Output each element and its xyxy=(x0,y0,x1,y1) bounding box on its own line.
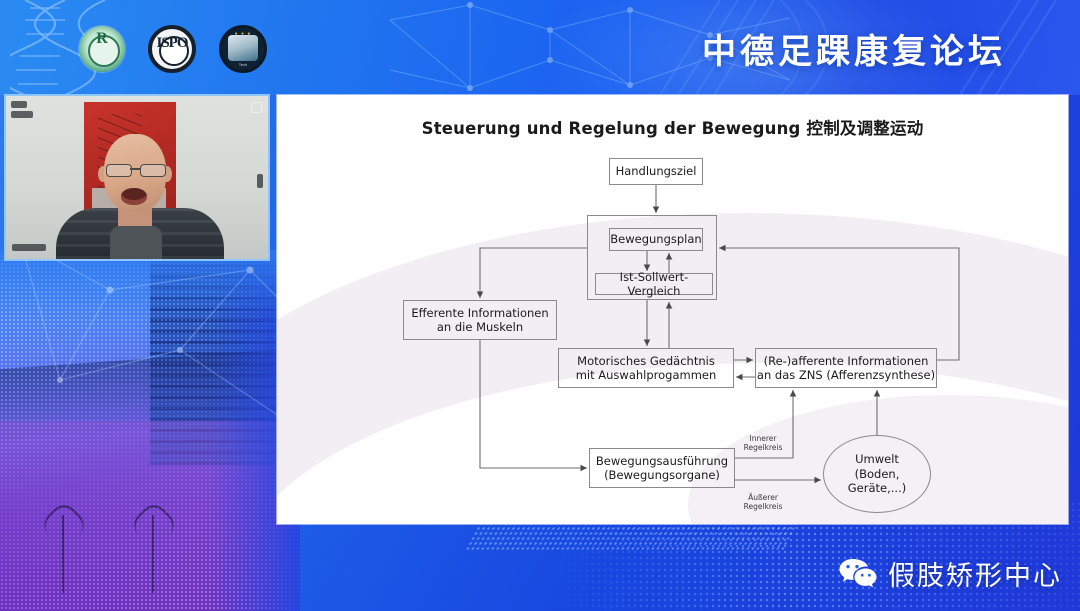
speaker-webcam[interactable] xyxy=(4,94,270,261)
node-efferente-informationen-label: Efferente Informationenan die Muskeln xyxy=(411,306,548,334)
screen: R ISPO ● ● ● Tech 中德足踝康复论坛 xyxy=(0,0,1080,611)
background-network-decoration xyxy=(0,230,300,470)
logo-blue-seal: ● ● ● Tech xyxy=(219,25,267,73)
logo-green-seal: R xyxy=(79,26,125,72)
node-handlungsziel[interactable]: Handlungsziel xyxy=(609,158,703,185)
event-title: 中德足踝康复论坛 xyxy=(702,24,1006,73)
webcam-speaker-shirt xyxy=(110,226,162,261)
node-bewegungsplan-label: Bewegungsplan xyxy=(610,232,701,246)
wechat-icon xyxy=(838,557,878,591)
node-bewegungsausfuehrung[interactable]: Bewegungsausführung(Bewegungsorgane) xyxy=(589,448,735,488)
node-umwelt[interactable]: Umwelt(Boden, Geräte,...) xyxy=(823,435,931,513)
webcam-side-handle[interactable] xyxy=(257,174,263,188)
webcam-speaker-glasses-left xyxy=(106,164,132,177)
edge-label-aeusserer-regelkreis: ÄußererRegelkreis xyxy=(735,493,791,512)
node-bewegungsausfuehrung-label: Bewegungsausführung(Bewegungsorgane) xyxy=(596,454,728,482)
logo-black-seal-glyph: ISPO xyxy=(152,35,192,52)
logo-blue-seal-sub: Tech xyxy=(222,62,264,67)
logo-green-seal-glyph: R xyxy=(79,30,125,48)
event-header-banner: R ISPO ● ● ● Tech 中德足踝康复论坛 xyxy=(0,0,1080,95)
webcam-speaker-glasses-right xyxy=(140,164,166,177)
node-bewegungsplan[interactable]: Bewegungsplan xyxy=(609,228,703,251)
node-motorisches-gedaechtnis[interactable]: Motorisches Gedächtnismit Auswahlprogamm… xyxy=(558,348,734,388)
node-reafferente-informationen[interactable]: (Re-)afferente Informationenan das ZNS (… xyxy=(755,348,937,388)
slide-title: Steuerung und Regelung der Bewegung 控制及调… xyxy=(277,115,1068,139)
logo-blue-seal-emblem xyxy=(228,35,258,61)
webcam-overlay-badge xyxy=(11,101,27,108)
node-motorisches-gedaechtnis-label: Motorisches Gedächtnismit Auswahlprogamm… xyxy=(576,354,717,382)
watermark: 假肢矫形中心 xyxy=(838,554,1062,593)
edge-label-innerer-regelkreis: InnererRegelkreis xyxy=(735,434,791,453)
watermark-text: 假肢矫形中心 xyxy=(888,554,1062,593)
webcam-participant-name-label xyxy=(12,244,46,251)
logo-black-seal: ISPO xyxy=(148,25,196,73)
node-umwelt-label: Umwelt(Boden, Geräte,...) xyxy=(824,452,930,495)
webcam-overlay-name-label xyxy=(11,111,33,118)
webcam-speaker-glasses-bridge xyxy=(130,168,140,170)
node-efferente-informationen[interactable]: Efferente Informationenan die Muskeln xyxy=(403,300,557,340)
webcam-expand-icon[interactable] xyxy=(251,102,262,113)
node-handlungsziel-label: Handlungsziel xyxy=(616,164,697,178)
node-reafferente-informationen-label: (Re-)afferente Informationenan das ZNS (… xyxy=(757,354,935,382)
webcam-speaker-mouth xyxy=(121,188,147,205)
node-ist-sollwert-vergleich-label: Ist-Sollwert-Vergleich xyxy=(596,270,712,298)
node-ist-sollwert-vergleich[interactable]: Ist-Sollwert-Vergleich xyxy=(595,273,713,295)
presentation-slide[interactable]: Steuerung und Regelung der Bewegung 控制及调… xyxy=(277,95,1068,524)
